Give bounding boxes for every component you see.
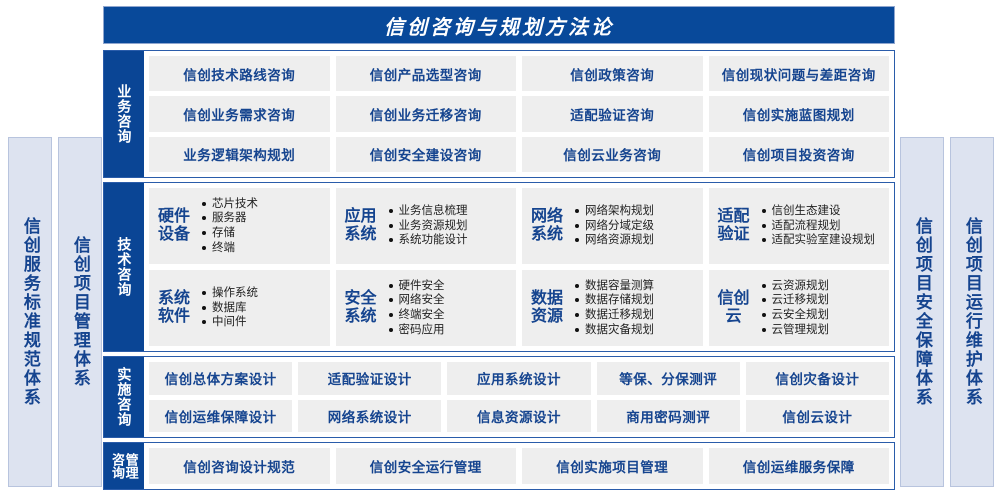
technical-card-title: 应用系统 <box>342 208 380 245</box>
technical-card-list-item: 系统功能设计 <box>388 233 511 248</box>
technical-card-list: 云资源规划云迁移规划云安全规划云管理规划 <box>759 279 884 338</box>
technical-card-list-item: 云迁移规划 <box>761 293 884 308</box>
band-technical-label-text: 技术咨询 <box>117 237 132 297</box>
technical-card-list: 业务信息梳理业务资源规划系统功能设计 <box>386 204 511 248</box>
pillar-project-operation-label: 信创项目运行维护体系 <box>963 217 981 407</box>
technical-card-list-item: 密码应用 <box>388 323 511 338</box>
business-item[interactable]: 业务逻辑架构规划 <box>149 137 330 172</box>
business-item[interactable]: 信创技术路线咨询 <box>149 56 330 91</box>
technical-card-list-item: 业务信息梳理 <box>388 204 511 219</box>
band-business-body: 信创技术路线咨询信创产品选型咨询信创政策咨询信创现状问题与差距咨询信创业务需求咨… <box>144 51 894 177</box>
technical-card[interactable]: 网络系统网络架构规划网络分域定级网络资源规划 <box>522 188 703 264</box>
technical-card-title: 硬件设备 <box>155 208 193 245</box>
technical-card[interactable]: 适配验证信创生态建设适配流程规划适配实验室建设规划 <box>709 188 890 264</box>
band-implementation-label-text: 实施咨询 <box>117 367 132 427</box>
technical-card-list-item: 网络安全 <box>388 293 511 308</box>
main-column: 信创咨询与规划方法论 业务咨询 信创技术路线咨询信创产品选型咨询信创政策咨询信创… <box>103 6 895 490</box>
implementation-item[interactable]: 适配验证设计 <box>298 362 441 395</box>
implementation-item[interactable]: 信息资源设计 <box>447 400 590 433</box>
business-item[interactable]: 信创实施蓝图规划 <box>709 96 890 131</box>
technical-card-list-item: 网络资源规划 <box>574 233 697 248</box>
business-item[interactable]: 信创云业务咨询 <box>522 137 703 172</box>
technical-card-list-item: 终端 <box>201 241 324 256</box>
implementation-row: 信创总体方案设计适配验证设计应用系统设计等保、分保测评信创灾备设计 <box>149 362 889 395</box>
technical-card-list-item: 数据迁移规划 <box>574 308 697 323</box>
band-management-label-col1: 管理 <box>124 453 138 479</box>
technical-card-list: 操作系统数据库中间件 <box>199 286 324 330</box>
technical-card-list: 硬件安全网络安全终端安全密码应用 <box>386 279 511 338</box>
business-row: 信创技术路线咨询信创产品选型咨询信创政策咨询信创现状问题与差距咨询 <box>149 56 889 91</box>
band-technical-consulting: 技术咨询 硬件设备芯片技术服务器存储终端应用系统业务信息梳理业务资源规划系统功能… <box>103 182 895 352</box>
technical-card[interactable]: 信创云云资源规划云迁移规划云安全规划云管理规划 <box>709 270 890 346</box>
technical-card-list-item: 适配流程规划 <box>761 219 884 234</box>
technical-card-list: 信创生态建设适配流程规划适配实验室建设规划 <box>759 204 884 248</box>
technical-card-list-item: 操作系统 <box>201 286 324 301</box>
business-item[interactable]: 信创产品选型咨询 <box>336 56 517 91</box>
technical-card[interactable]: 数据资源数据容量测算数据存储规划数据迁移规划数据灾备规划 <box>522 270 703 346</box>
band-business-label: 业务咨询 <box>104 51 144 177</box>
technical-card-list-item: 云资源规划 <box>761 279 884 294</box>
band-implementation-label: 实施咨询 <box>104 357 144 437</box>
technical-card[interactable]: 系统软件操作系统数据库中间件 <box>149 270 330 346</box>
implementation-item[interactable]: 信创云设计 <box>746 400 889 433</box>
technical-card-title: 适配验证 <box>715 208 753 245</box>
business-item[interactable]: 信创安全建设咨询 <box>336 137 517 172</box>
technical-card[interactable]: 应用系统业务信息梳理业务资源规划系统功能设计 <box>336 188 517 264</box>
band-management-label-col2: 咨询 <box>110 453 124 479</box>
technical-card-list-item: 数据容量测算 <box>574 279 697 294</box>
pillar-project-management: 信创项目管理体系 <box>58 137 102 487</box>
technical-card-list-item: 数据灾备规划 <box>574 323 697 338</box>
technical-card[interactable]: 硬件设备芯片技术服务器存储终端 <box>149 188 330 264</box>
pillar-service-standard-label: 信创服务标准规范体系 <box>21 217 39 407</box>
implementation-item[interactable]: 网络系统设计 <box>298 400 441 433</box>
technical-card-list-item: 存储 <box>201 226 324 241</box>
technical-card-list-item: 硬件安全 <box>388 279 511 294</box>
implementation-item[interactable]: 信创总体方案设计 <box>149 362 292 395</box>
technical-card-list-item: 数据库 <box>201 301 324 316</box>
pillar-service-standard: 信创服务标准规范体系 <box>8 137 52 487</box>
technical-card-list-item: 服务器 <box>201 211 324 226</box>
technical-card-list-item: 终端安全 <box>388 308 511 323</box>
band-management-consulting: 管理 咨询 信创咨询设计规范信创安全运行管理信创实施项目管理信创运维服务保障 <box>103 442 895 490</box>
management-item[interactable]: 信创实施项目管理 <box>522 448 703 484</box>
pillar-project-management-label: 信创项目管理体系 <box>71 236 89 388</box>
implementation-item[interactable]: 等保、分保测评 <box>597 362 740 395</box>
business-item[interactable]: 适配验证咨询 <box>522 96 703 131</box>
business-item[interactable]: 信创现状问题与差距咨询 <box>709 56 890 91</box>
technical-card-list-item: 信创生态建设 <box>761 204 884 219</box>
technical-row: 系统软件操作系统数据库中间件安全系统硬件安全网络安全终端安全密码应用数据资源数据… <box>149 270 889 346</box>
management-row: 信创咨询设计规范信创安全运行管理信创实施项目管理信创运维服务保障 <box>149 448 889 484</box>
implementation-item[interactable]: 信创运维保障设计 <box>149 400 292 433</box>
pillar-project-security: 信创项目安全保障体系 <box>900 137 944 487</box>
technical-card-list: 数据容量测算数据存储规划数据迁移规划数据灾备规划 <box>572 279 697 338</box>
technical-card-list-item: 网络架构规划 <box>574 204 697 219</box>
technical-card-title: 信创云 <box>715 290 753 327</box>
band-management-body: 信创咨询设计规范信创安全运行管理信创实施项目管理信创运维服务保障 <box>144 443 894 489</box>
technical-card-title: 系统软件 <box>155 290 193 327</box>
diagram-title-bar: 信创咨询与规划方法论 <box>103 6 895 44</box>
business-item[interactable]: 信创项目投资咨询 <box>709 137 890 172</box>
technical-card-list-item: 云安全规划 <box>761 308 884 323</box>
band-implementation-body: 信创总体方案设计适配验证设计应用系统设计等保、分保测评信创灾备设计信创运维保障设… <box>144 357 894 437</box>
management-item[interactable]: 信创运维服务保障 <box>709 448 890 484</box>
implementation-item[interactable]: 商用密码测评 <box>597 400 740 433</box>
technical-card-list: 芯片技术服务器存储终端 <box>199 197 324 256</box>
implementation-row: 信创运维保障设计网络系统设计信息资源设计商用密码测评信创云设计 <box>149 400 889 433</box>
page-title: 信创咨询与规划方法论 <box>384 11 614 40</box>
technical-card-title: 数据资源 <box>528 290 566 327</box>
band-business-consulting: 业务咨询 信创技术路线咨询信创产品选型咨询信创政策咨询信创现状问题与差距咨询信创… <box>103 50 895 178</box>
technical-row: 硬件设备芯片技术服务器存储终端应用系统业务信息梳理业务资源规划系统功能设计网络系… <box>149 188 889 264</box>
band-technical-label: 技术咨询 <box>104 183 144 351</box>
business-item[interactable]: 信创政策咨询 <box>522 56 703 91</box>
management-item[interactable]: 信创咨询设计规范 <box>149 448 330 484</box>
technical-card-list-item: 中间件 <box>201 315 324 330</box>
band-business-label-text: 业务咨询 <box>117 84 132 144</box>
band-management-label: 管理 咨询 <box>104 443 144 489</box>
pillar-project-security-label: 信创项目安全保障体系 <box>913 217 931 407</box>
technical-card-list-item: 云管理规划 <box>761 323 884 338</box>
technical-card-list-item: 芯片技术 <box>201 197 324 212</box>
technical-card-list-item: 数据存储规划 <box>574 293 697 308</box>
business-item[interactable]: 信创业务迁移咨询 <box>336 96 517 131</box>
technical-card-title: 网络系统 <box>528 208 566 245</box>
methodology-diagram: 信创服务标准规范体系 信创项目管理体系 信创项目安全保障体系 信创项目运行维护体… <box>0 0 1000 496</box>
technical-card-title: 安全系统 <box>342 290 380 327</box>
technical-card-list-item: 网络分域定级 <box>574 219 697 234</box>
implementation-item[interactable]: 信创灾备设计 <box>746 362 889 395</box>
business-row: 信创业务需求咨询信创业务迁移咨询适配验证咨询信创实施蓝图规划 <box>149 96 889 131</box>
technical-card-list: 网络架构规划网络分域定级网络资源规划 <box>572 204 697 248</box>
band-implementation-consulting: 实施咨询 信创总体方案设计适配验证设计应用系统设计等保、分保测评信创灾备设计信创… <box>103 356 895 438</box>
technical-card-list-item: 适配实验室建设规划 <box>761 233 884 248</box>
business-item[interactable]: 信创业务需求咨询 <box>149 96 330 131</box>
technical-card[interactable]: 安全系统硬件安全网络安全终端安全密码应用 <box>336 270 517 346</box>
band-technical-body: 硬件设备芯片技术服务器存储终端应用系统业务信息梳理业务资源规划系统功能设计网络系… <box>144 183 894 351</box>
implementation-item[interactable]: 应用系统设计 <box>447 362 590 395</box>
pillar-project-operation: 信创项目运行维护体系 <box>950 137 994 487</box>
technical-card-list-item: 业务资源规划 <box>388 219 511 234</box>
management-item[interactable]: 信创安全运行管理 <box>336 448 517 484</box>
business-row: 业务逻辑架构规划信创安全建设咨询信创云业务咨询信创项目投资咨询 <box>149 137 889 172</box>
